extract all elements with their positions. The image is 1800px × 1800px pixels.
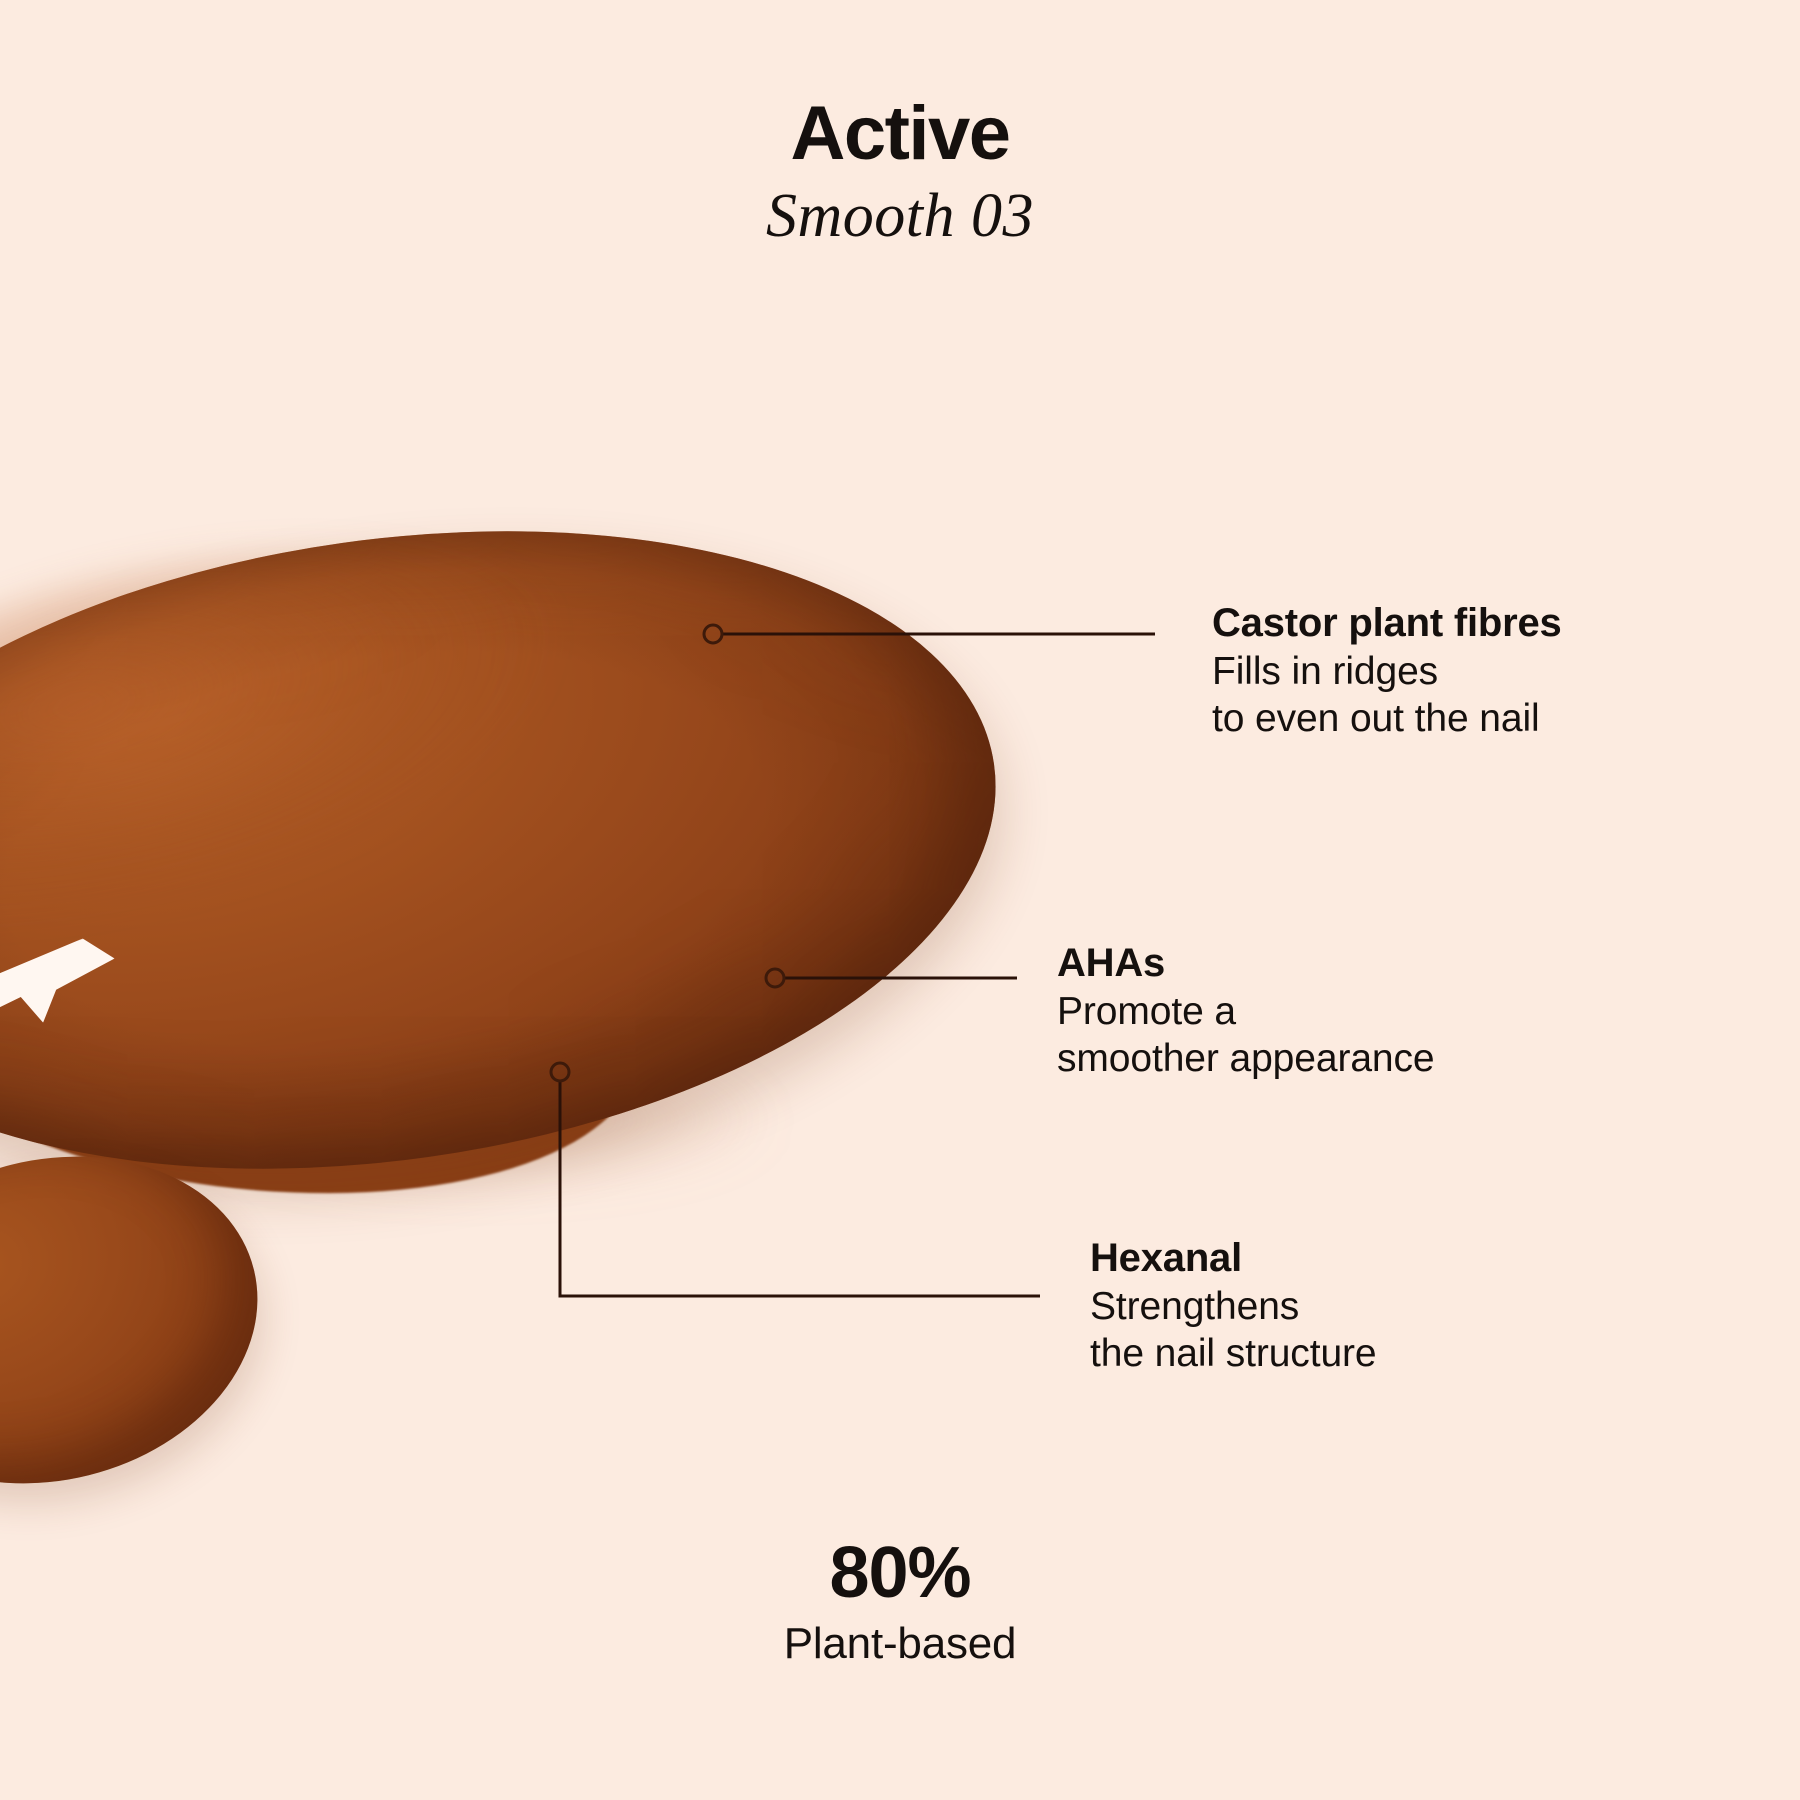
leader-path: [560, 1082, 1040, 1296]
callout-title: Castor plant fibres: [1212, 600, 1562, 647]
plant-based-percentage: 80%: [0, 1536, 1800, 1612]
footer-stat: 80% Plant-based: [0, 1536, 1800, 1670]
plant-based-label: Plant-based: [0, 1618, 1800, 1671]
callout-title: Hexanal: [1090, 1235, 1377, 1282]
leader-line-castor-plant-fibres: [704, 625, 1155, 643]
leader-lines: [0, 0, 1800, 1800]
callout-body: Fills in ridges to even out the nail: [1212, 649, 1562, 743]
callout-castor-plant-fibres: Castor plant fibres Fills in ridges to e…: [1212, 600, 1562, 743]
leader-marker-dot: [551, 1063, 569, 1081]
callout-title: AHAs: [1057, 940, 1435, 987]
leader-line-ahas: [766, 969, 1017, 987]
callout-hexanal: Hexanal Strengthens the nail structure: [1090, 1235, 1377, 1378]
product-ingredient-infographic: Active Smooth 03 Castor plant fibres Fil…: [0, 0, 1800, 1800]
leader-marker-dot: [704, 625, 722, 643]
leader-marker-dot: [766, 969, 784, 987]
callout-body: Strengthens the nail structure: [1090, 1284, 1377, 1378]
callout-body: Promote a smoother appearance: [1057, 989, 1435, 1083]
leader-line-hexanal: [551, 1063, 1040, 1296]
callout-ahas: AHAs Promote a smoother appearance: [1057, 940, 1435, 1083]
